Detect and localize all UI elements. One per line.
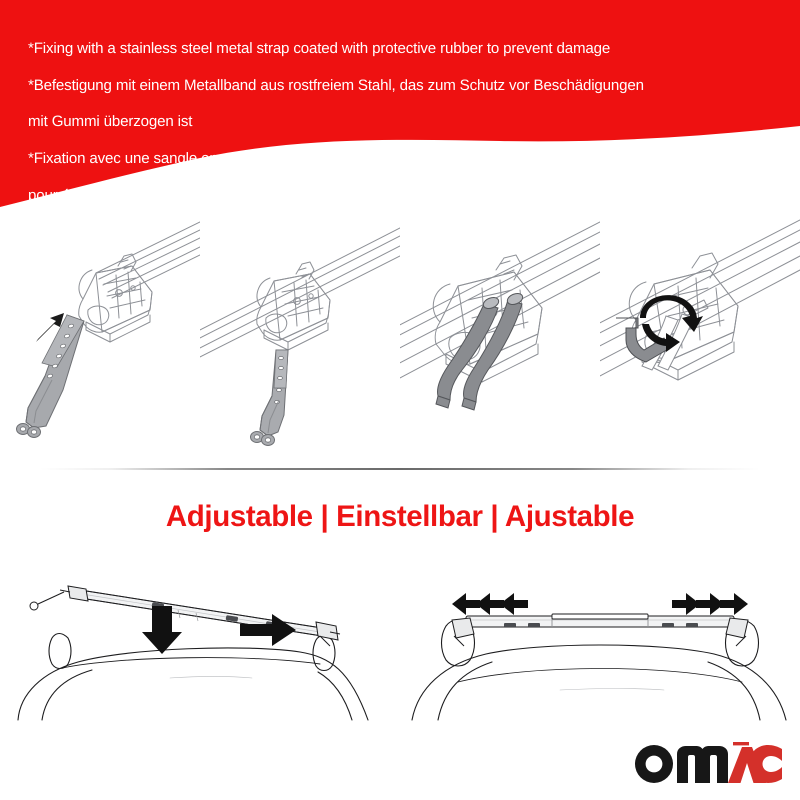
roof-views-section bbox=[0, 560, 800, 725]
adjustable-title: Adjustable | Einstellbar | Ajustable bbox=[0, 500, 800, 534]
mounting-steps-section bbox=[0, 200, 800, 475]
product-info-page: *Fixing with a stainless steel metal str… bbox=[0, 0, 800, 800]
omac-logo bbox=[632, 740, 782, 788]
omac-logo-mark bbox=[632, 740, 782, 788]
header-line-fr-1: *Fixation avec une sangle en métal inoxy… bbox=[28, 150, 788, 168]
roof-side-view-illustration bbox=[0, 560, 400, 725]
diagram-step-1 bbox=[0, 200, 200, 468]
logo-letter-o bbox=[635, 745, 673, 783]
diagram-step-3 bbox=[400, 200, 600, 468]
mounting-steps-grid bbox=[0, 200, 800, 468]
roof-view-side bbox=[0, 560, 400, 725]
roof-view-front bbox=[400, 560, 800, 725]
triple-left-arrow-icon bbox=[452, 593, 528, 615]
step-2-illustration bbox=[200, 200, 400, 468]
diagram-step-2 bbox=[200, 200, 400, 468]
logo-letter-m bbox=[677, 746, 728, 783]
header-line-en: *Fixing with a stainless steel metal str… bbox=[28, 40, 788, 58]
metal-strap-part bbox=[17, 315, 85, 438]
header-line-de-1: *Befestigung mit einem Metallband aus ro… bbox=[28, 77, 788, 95]
step-3-illustration bbox=[400, 200, 600, 468]
triple-right-arrow-icon bbox=[672, 593, 748, 615]
diagram-step-4 bbox=[600, 200, 800, 468]
header-description: *Fixing with a stainless steel metal str… bbox=[28, 22, 788, 215]
header-line-de-2: mit Gummi überzogen ist bbox=[28, 113, 788, 131]
metal-strap-part bbox=[251, 350, 289, 446]
step-4-illustration bbox=[600, 200, 800, 468]
roof-front-view-illustration bbox=[400, 560, 800, 725]
step-1-illustration bbox=[0, 200, 200, 468]
section-divider bbox=[40, 468, 760, 470]
header-banner: *Fixing with a stainless steel metal str… bbox=[0, 0, 800, 215]
